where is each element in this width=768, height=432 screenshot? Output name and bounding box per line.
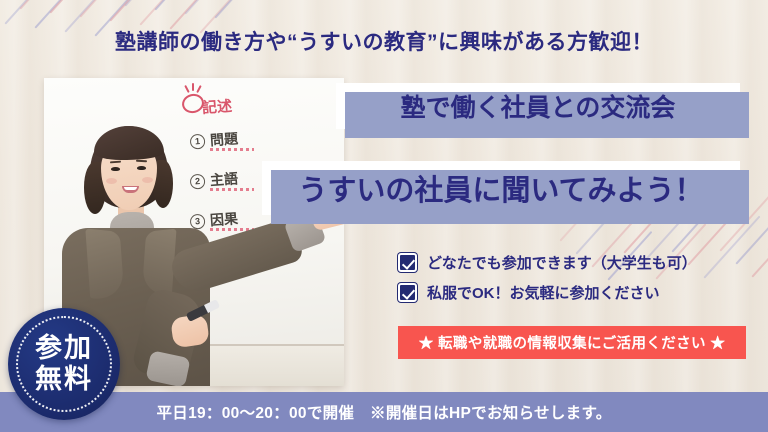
figure-eye-left xyxy=(111,167,120,171)
poster-canvas: 塾講師の働き方や“うすいの教育”に興味がある方歓迎！ 記述 1問題 2主語 3因… xyxy=(0,0,768,432)
checkbox-checked-icon xyxy=(398,253,417,272)
footer-bar: 平日19：00〜20：00で開催 ※開催日はHPでお知らせします。 xyxy=(0,392,768,432)
checklist-item: 私服でOK！お気軽に参加ください xyxy=(398,282,697,303)
benefits-checklist: どなたでも参加できます（大学生も可） 私服でOK！お気軽に参加ください xyxy=(398,252,697,312)
figure-fringe xyxy=(94,126,164,160)
badge-line-2: 無料 xyxy=(35,364,93,395)
badge-line-1: 参加 xyxy=(35,333,93,364)
figure-eye-right xyxy=(137,166,146,170)
checklist-item-label: どなたでも参加できます（大学生も可） xyxy=(427,252,697,273)
checklist-item: どなたでも参加できます（大学生も可） xyxy=(398,252,697,273)
free-participation-badge: 参加 無料 xyxy=(8,308,120,420)
poster-headline: 塾講師の働き方や“うすいの教育”に興味がある方歓迎！ xyxy=(0,26,768,56)
checklist-item-label: 私服でOK！お気軽に参加ください xyxy=(427,282,660,303)
figure-cheek-right xyxy=(142,177,153,183)
checkbox-checked-icon xyxy=(398,283,417,302)
call-to-action-ribbon: ★ 転職や就職の情報収集にご活用ください ★ xyxy=(398,326,746,359)
event-title-banner: 塾で働く社員との交流会 xyxy=(336,83,740,129)
event-subtitle-banner: うすいの社員に聞いてみよう！ xyxy=(262,161,740,215)
figure-cheek-left xyxy=(106,178,117,184)
footer-schedule-text: 平日19：00〜20：00で開催 ※開催日はHPでお知らせします。 xyxy=(156,401,611,423)
